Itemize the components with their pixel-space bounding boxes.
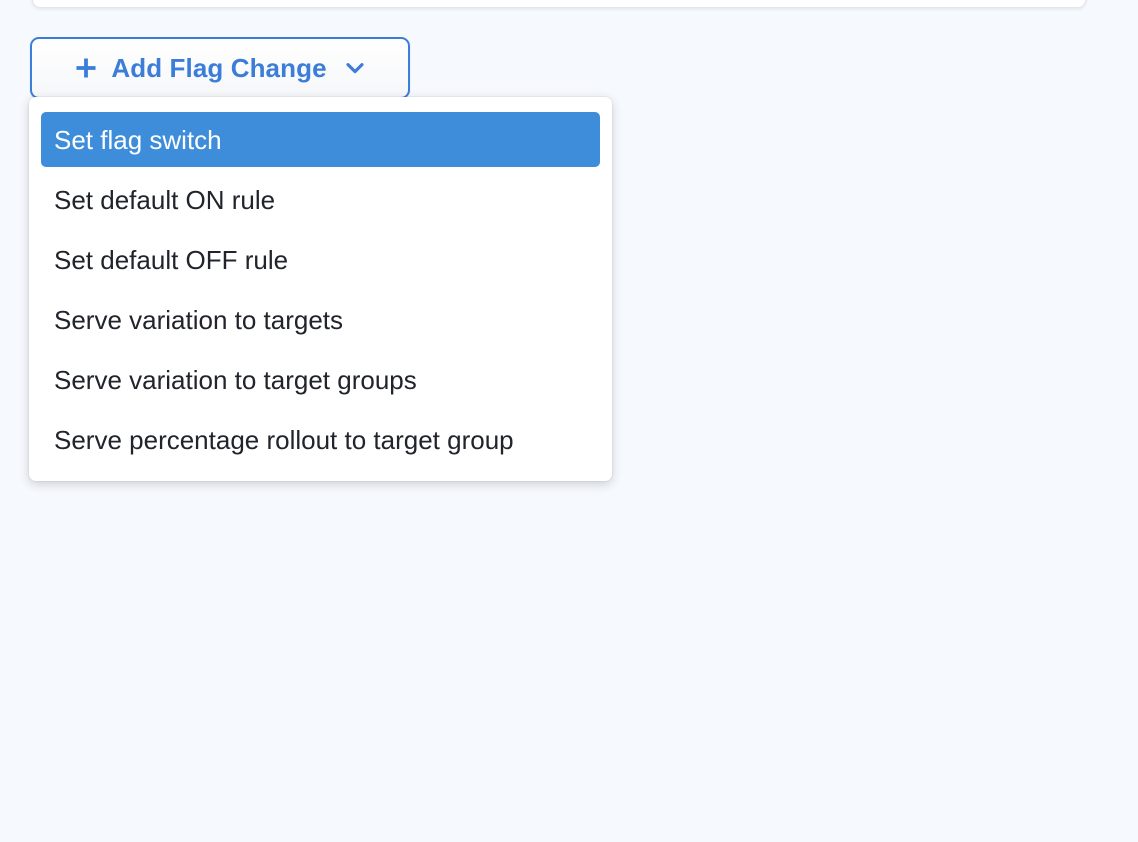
chevron-down-icon (343, 56, 367, 80)
menu-item-set-default-off-rule[interactable]: Set default OFF rule (41, 232, 600, 287)
add-flag-change-button[interactable]: Add Flag Change (30, 37, 410, 99)
partially-visible-card (32, 0, 1086, 8)
menu-item-serve-percentage-rollout-to-target-group[interactable]: Serve percentage rollout to target group (41, 412, 600, 467)
menu-item-label: Serve percentage rollout to target group (54, 427, 514, 453)
menu-item-serve-variation-to-target-groups[interactable]: Serve variation to target groups (41, 352, 600, 407)
menu-item-serve-variation-to-targets[interactable]: Serve variation to targets (41, 292, 600, 347)
menu-item-label: Serve variation to targets (54, 307, 343, 333)
plus-icon (73, 55, 99, 81)
flag-change-menu: Set flag switch Set default ON rule Set … (29, 97, 612, 481)
menu-item-set-default-on-rule[interactable]: Set default ON rule (41, 172, 600, 227)
menu-item-label: Set default ON rule (54, 187, 275, 213)
menu-item-label: Set default OFF rule (54, 247, 288, 273)
add-flag-change-label: Add Flag Change (111, 55, 326, 81)
menu-item-set-flag-switch[interactable]: Set flag switch (41, 112, 600, 167)
menu-item-label: Serve variation to target groups (54, 367, 417, 393)
menu-item-label: Set flag switch (54, 127, 222, 153)
